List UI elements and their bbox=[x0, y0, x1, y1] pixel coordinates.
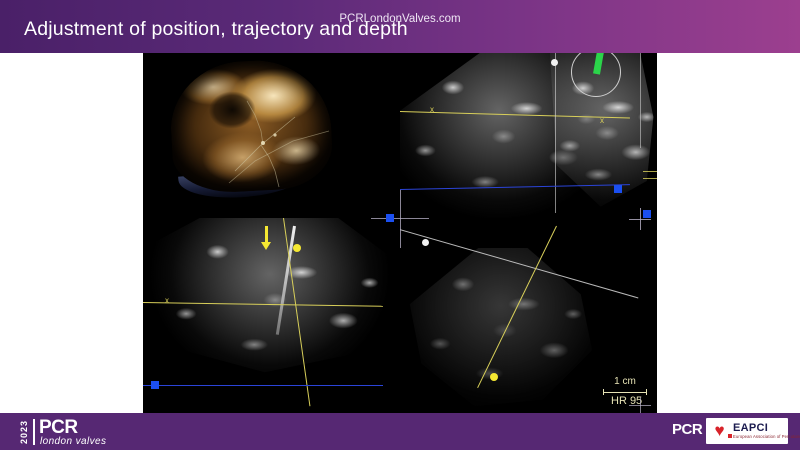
scale-bar-tick-left bbox=[603, 389, 604, 395]
reference-marker-yellow-upper[interactable] bbox=[293, 244, 301, 252]
trajectory-marker-white[interactable] bbox=[422, 239, 429, 246]
quadrant-divider-vertical bbox=[400, 190, 401, 248]
eapci-bullet-icon bbox=[728, 434, 732, 438]
annotation-arrow-head bbox=[261, 242, 271, 250]
footer-website-url[interactable]: PCRLondonValves.com bbox=[0, 13, 800, 25]
eapci-logo: ♥ EAPCI European Association of Percutan… bbox=[706, 418, 788, 444]
reference-line-label-x-left: x bbox=[430, 105, 434, 114]
logo-subtitle-label: london valves bbox=[40, 436, 106, 447]
logo-divider bbox=[33, 419, 35, 445]
echo-quadrant-bottom-right[interactable]: 1 cm HR 95 bbox=[400, 218, 657, 413]
eapci-name-label: EAPCI bbox=[733, 422, 768, 434]
edge-marker-yellow-right-b bbox=[643, 178, 657, 179]
scale-bar-tick-right bbox=[646, 389, 647, 395]
reference-line-label-x-right: x bbox=[600, 116, 604, 125]
volume-wireframe-overlay bbox=[143, 53, 400, 218]
orientation-wedge-icon bbox=[593, 53, 605, 75]
reference-marker-blue-left[interactable] bbox=[151, 381, 159, 389]
echo-quadrant-top-left[interactable] bbox=[143, 53, 400, 218]
reference-line-blue-bottom-bl[interactable] bbox=[143, 385, 383, 386]
corner-marker-blue-tr[interactable] bbox=[643, 210, 651, 218]
quadrant-center-marker-blue[interactable] bbox=[386, 214, 394, 222]
scale-bar-label: 1 cm bbox=[605, 376, 645, 387]
trajectory-marker-yellow[interactable] bbox=[490, 373, 498, 381]
pcr-london-valves-logo: 2023 PCR london valves bbox=[18, 417, 148, 447]
eapci-subtitle-label: European Association of Percutaneous Car… bbox=[733, 434, 800, 439]
scale-bar-line bbox=[603, 392, 647, 393]
heart-icon: ♥ bbox=[711, 422, 728, 439]
echo-quadrant-bottom-left[interactable]: x bbox=[143, 218, 400, 413]
scan-line-vertical[interactable] bbox=[555, 53, 556, 213]
scan-line-marker-top[interactable] bbox=[551, 59, 558, 66]
sector-edge-right bbox=[640, 53, 641, 148]
ultrasound-sector-bottom-right bbox=[406, 248, 596, 413]
echo-quadrant-top-right[interactable]: x x bbox=[400, 53, 657, 218]
edge-marker-yellow-right bbox=[643, 171, 657, 172]
reference-line-label-x-bl: x bbox=[165, 296, 169, 305]
corner-crosshair-tr-v bbox=[640, 208, 641, 230]
corner-crosshair-br-v bbox=[640, 397, 641, 413]
reference-marker-blue-right[interactable] bbox=[614, 185, 622, 193]
echocardiography-screen: x x x bbox=[143, 53, 657, 413]
logo-year-label: 2023 bbox=[18, 418, 30, 446]
pcr-small-logo: PCR bbox=[672, 421, 702, 438]
